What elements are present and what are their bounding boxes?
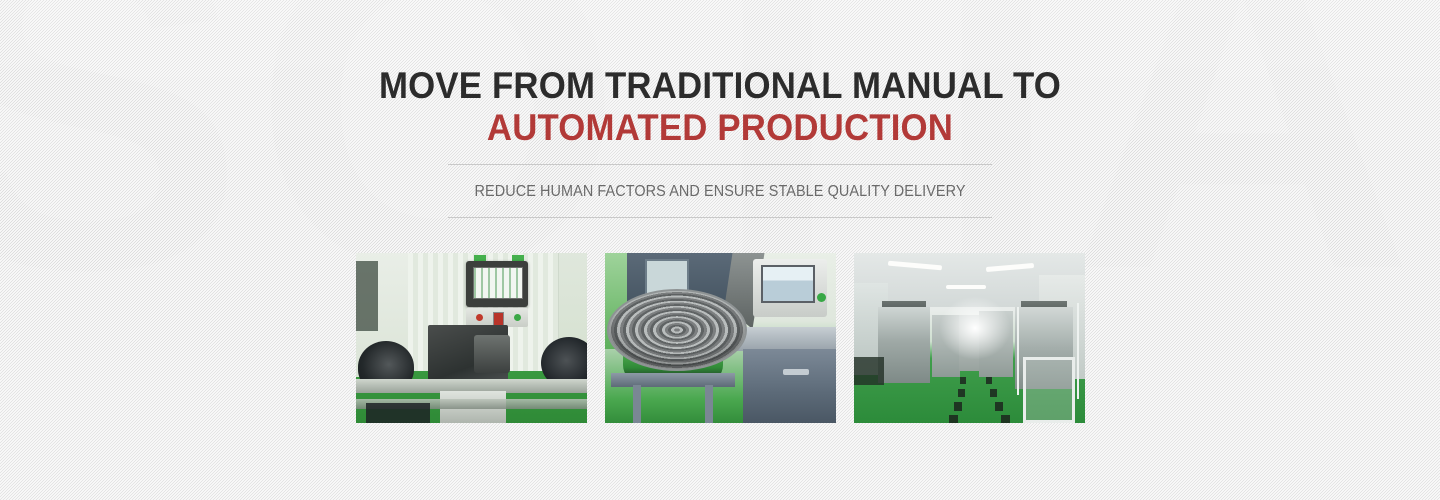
photo3-floor-marking [958, 389, 965, 397]
photo2-cabinet-handle [783, 369, 809, 375]
photo3-corridor-glow [940, 297, 1010, 359]
photo-automated-assembly-station[interactable] [356, 253, 587, 423]
photo1-red-button [476, 314, 483, 321]
divider-top [448, 164, 992, 165]
photo1-lower-fixture [366, 403, 430, 423]
photo3-floor-marking [995, 402, 1003, 411]
photo3-ceiling-light-c [946, 285, 986, 289]
photo3-floor-marking [986, 377, 992, 384]
headline-accent: AUTOMATED PRODUCTION [43, 107, 1397, 148]
photo2-vibratory-bowl [607, 289, 747, 371]
photo3-floor-marking [960, 377, 966, 384]
banner-content: MOVE FROM TRADITIONAL MANUAL TO AUTOMATE… [0, 0, 1440, 500]
photo2-green-button [817, 293, 826, 302]
photo1-emergency-button [493, 312, 504, 326]
photo3-machine-left-1 [878, 307, 930, 383]
photo2-hmi-screen [761, 265, 815, 303]
promo-banner: SOTIAN MOVE FROM TRADITIONAL MANUAL TO A… [0, 0, 1440, 500]
photo1-green-button [514, 314, 521, 321]
photo3-equipment-cart [1023, 357, 1075, 423]
photo3-floor-marking [954, 402, 962, 411]
photo2-stand-legs [627, 385, 719, 423]
photo-vibratory-bowl-feeder[interactable] [605, 253, 836, 423]
photo-production-workshop[interactable] [854, 253, 1085, 423]
photo1-dark-corner [356, 261, 378, 331]
photo3-floor-marking [1001, 415, 1010, 423]
photo1-machine-module [474, 335, 510, 373]
banner-subtitle: REDUCE HUMAN FACTORS AND ENSURE STABLE Q… [474, 183, 965, 201]
divider-bottom [448, 217, 992, 218]
photo1-hmi-screen [473, 267, 523, 299]
photo3-frame-right [1077, 303, 1079, 399]
photo3-left-shadow [854, 357, 884, 385]
headline-block: MOVE FROM TRADITIONAL MANUAL TO AUTOMATE… [0, 66, 1440, 148]
photo-gallery [356, 253, 1085, 423]
photo2-machine-cabinet [743, 349, 836, 423]
photo3-floor-marking [949, 415, 958, 423]
photo3-frame-right-2 [1017, 307, 1019, 395]
photo3-floor-marking [990, 389, 997, 397]
headline-primary: MOVE FROM TRADITIONAL MANUAL TO [43, 66, 1397, 106]
